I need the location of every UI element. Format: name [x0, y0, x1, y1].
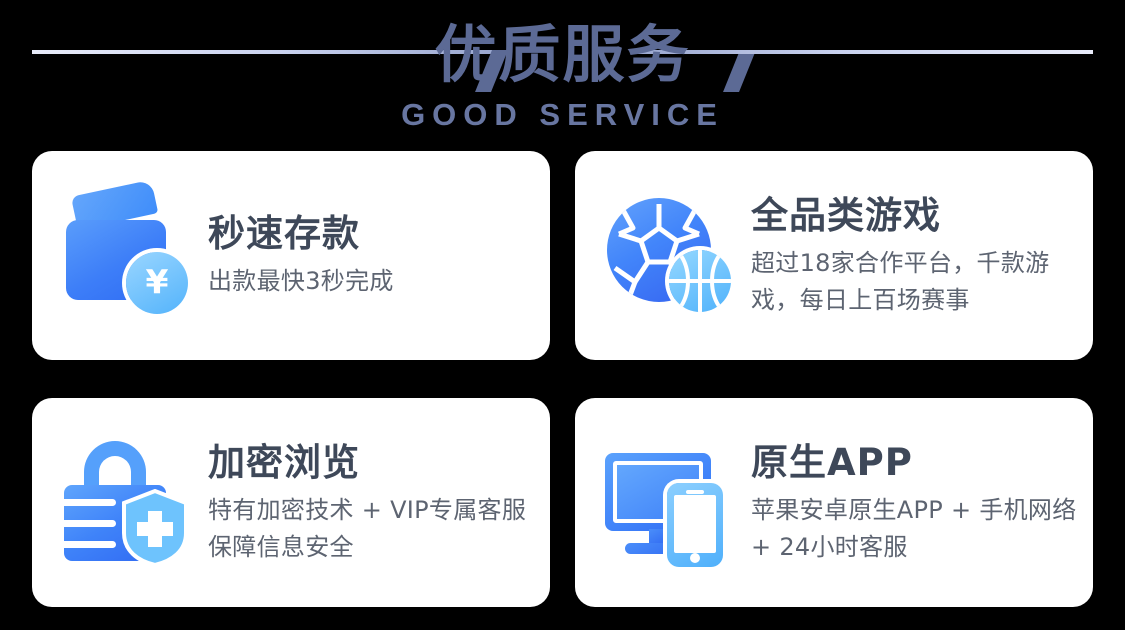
feature-card-desc: 苹果安卓原生APP + 手机网络 + 24小时客服 [751, 492, 1077, 566]
lock-slot-shape [64, 499, 116, 506]
phone-speaker-shape [686, 490, 704, 494]
yen-coin-icon: ¥ [126, 252, 188, 314]
feature-card-title: 秒速存款 [208, 211, 534, 257]
page-title: 优质服务 [0, 0, 1125, 98]
phone-home-button-shape [690, 553, 700, 563]
feature-card-deposit[interactable]: ¥ 秒速存款 出款最快3秒完成 [32, 151, 550, 360]
soccer-basketball-icon [605, 190, 737, 322]
page-header: 优质服务 GOOD SERVICE [0, 0, 1125, 145]
feature-card-games[interactable]: 全品类游戏 超过18家合作平台，千款游戏，每日上百场赛事 [575, 151, 1093, 360]
basketball-icon [669, 250, 731, 312]
feature-card-text: 加密浏览 特有加密技术 + VIP专属客服保障信息安全 [208, 440, 550, 566]
feature-card-grid: ¥ 秒速存款 出款最快3秒完成 [32, 151, 1093, 607]
feature-card-title: 加密浏览 [208, 440, 534, 486]
feature-card-text: 秒速存款 出款最快3秒完成 [208, 211, 550, 300]
feature-card-desc: 超过18家合作平台，千款游戏，每日上百场赛事 [751, 245, 1077, 319]
lock-shield-icon [62, 437, 194, 569]
shield-cross-icon [120, 489, 190, 567]
page-title-block: 优质服务 GOOD SERVICE [0, 0, 1125, 132]
feature-card-title: 全品类游戏 [751, 193, 1077, 239]
wallet-coin-icon: ¥ [62, 190, 194, 322]
feature-card-desc: 出款最快3秒完成 [208, 263, 534, 300]
feature-card-title: 原生APP [751, 440, 1077, 486]
feature-card-text: 全品类游戏 超过18家合作平台，千款游戏，每日上百场赛事 [751, 193, 1093, 319]
monitor-phone-icon [605, 437, 737, 569]
phone-icon [667, 483, 723, 567]
feature-card-encryption[interactable]: 加密浏览 特有加密技术 + VIP专属客服保障信息安全 [32, 398, 550, 607]
lock-slot-shape [64, 541, 116, 548]
phone-screen-shape [674, 495, 716, 553]
page-subtitle: GOOD SERVICE [0, 98, 1125, 132]
feature-card-text: 原生APP 苹果安卓原生APP + 手机网络 + 24小时客服 [751, 440, 1093, 566]
feature-card-native-app[interactable]: 原生APP 苹果安卓原生APP + 手机网络 + 24小时客服 [575, 398, 1093, 607]
feature-card-desc: 特有加密技术 + VIP专属客服保障信息安全 [208, 492, 534, 566]
lock-slot-shape [64, 520, 116, 527]
